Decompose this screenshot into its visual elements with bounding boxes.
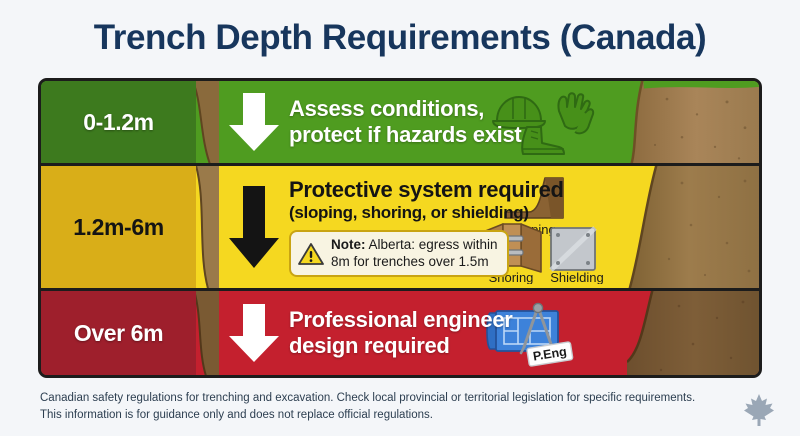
trench-depth-chart: 0-1.2m Assess conditions, protect if haz… bbox=[38, 78, 762, 378]
depth-label-box-intermediate: 1.2m-6m bbox=[41, 166, 196, 288]
page-title: Trench Depth Requirements (Canada) bbox=[0, 18, 800, 58]
subline-intermediate: (sloping, shoring, or shielding) bbox=[289, 203, 584, 223]
headline-line1-shallow: Assess conditions, bbox=[289, 96, 584, 122]
headline-line1-intermediate: Protective system required bbox=[289, 177, 584, 203]
warning-triangle-icon bbox=[298, 242, 324, 266]
soil-column-intermediate bbox=[627, 166, 759, 291]
down-arrow-icon bbox=[226, 184, 282, 270]
depth-label-deep: Over 6m bbox=[74, 320, 163, 347]
note-prefix: Note: bbox=[331, 237, 366, 252]
soil-column-deep bbox=[627, 291, 759, 375]
note-line1: Alberta: egress within bbox=[366, 237, 498, 252]
band-text-deep: Professional engineer design required bbox=[289, 291, 584, 375]
maple-leaf-icon bbox=[742, 392, 776, 428]
headline-line2-shallow: protect if hazards exist bbox=[289, 122, 584, 148]
band-deep: Over 6m Professional engineer design req… bbox=[41, 291, 759, 375]
band-text-intermediate: Protective system required (sloping, sho… bbox=[289, 166, 584, 288]
alberta-note-text: Note: Alberta: egress within 8m for tren… bbox=[331, 237, 498, 271]
headline-line1-deep: Professional engineer bbox=[289, 307, 584, 333]
down-arrow-icon bbox=[226, 302, 282, 364]
footer-disclaimer: Canadian safety regulations for trenchin… bbox=[40, 390, 740, 423]
footer-line-2: This information is for guidance only an… bbox=[40, 407, 740, 424]
headline-line2-deep: design required bbox=[289, 333, 584, 359]
depth-label-box-deep: Over 6m bbox=[41, 291, 196, 375]
infographic-page: Trench Depth Requirements (Canada) bbox=[0, 0, 800, 436]
depth-label-intermediate: 1.2m-6m bbox=[73, 214, 164, 241]
depth-label-shallow: 0-1.2m bbox=[83, 109, 153, 136]
down-arrow-icon bbox=[226, 91, 282, 153]
soil-column-shallow bbox=[627, 81, 759, 166]
alberta-note-box: Note: Alberta: egress within 8m for tren… bbox=[289, 230, 509, 278]
band-text-shallow: Assess conditions, protect if hazards ex… bbox=[289, 81, 584, 163]
note-line2: 8m for trenches over 1.5m bbox=[331, 254, 489, 269]
band-shallow: 0-1.2m Assess conditions, protect if haz… bbox=[41, 81, 759, 166]
band-intermediate: 1.2m-6m Protective system required (slop… bbox=[41, 166, 759, 291]
depth-label-box-shallow: 0-1.2m bbox=[41, 81, 196, 163]
footer-line-1: Canadian safety regulations for trenchin… bbox=[40, 390, 740, 407]
